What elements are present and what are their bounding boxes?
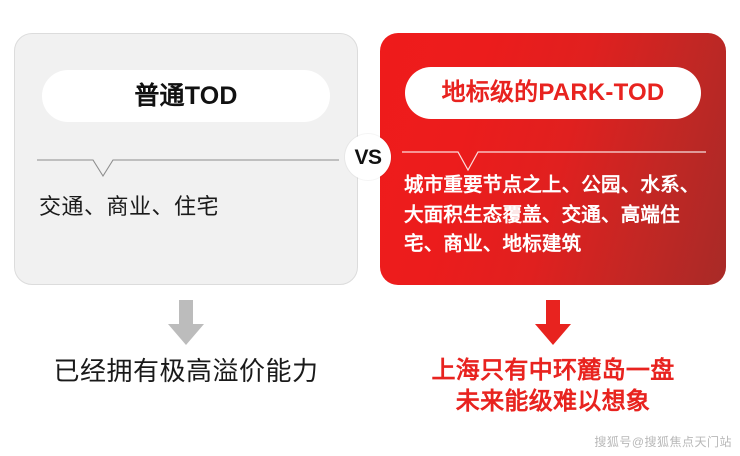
arrow-down-icon	[533, 300, 573, 346]
plain-tod-card: 普通TOD 交通、商业、住宅	[14, 33, 358, 285]
infographic-canvas: 普通TOD 交通、商业、住宅 地标级的PARK-TOD 城市重要节点之上、公园、…	[0, 0, 740, 456]
park-tod-card: 地标级的PARK-TOD 城市重要节点之上、公园、水系、大面积生态覆盖、交通、高…	[380, 33, 726, 285]
park-tod-title-pill: 地标级的PARK-TOD	[405, 67, 701, 119]
plain-tod-title-pill: 普通TOD	[42, 70, 330, 122]
divider-notch-icon	[37, 154, 339, 184]
plain-tod-conclusion-block: 已经拥有极高溢价能力	[14, 292, 358, 432]
vs-badge-label: VS	[354, 147, 381, 168]
plain-tod-conclusion-text: 已经拥有极高溢价能力	[53, 356, 318, 387]
comparison-cards-row: 普通TOD 交通、商业、住宅 地标级的PARK-TOD 城市重要节点之上、公园、…	[0, 0, 740, 292]
park-tod-conclusion-text: 上海只有中环麓岛一盘 未来能级难以想象	[432, 356, 675, 417]
park-tod-conclusion-block: 上海只有中环麓岛一盘 未来能级难以想象	[380, 292, 726, 432]
watermark: 搜狐号@搜狐焦点天门站	[594, 433, 732, 450]
arrow-down-icon	[166, 300, 206, 346]
park-tod-title: 地标级的PARK-TOD	[442, 81, 665, 105]
plain-tod-title: 普通TOD	[134, 84, 237, 109]
plain-tod-features: 交通、商业、住宅	[39, 192, 335, 222]
park-tod-features: 城市重要节点之上、公园、水系、大面积生态覆盖、交通、高端住宅、商业、地标建筑	[404, 171, 704, 260]
vs-badge-icon: VS	[345, 134, 391, 180]
